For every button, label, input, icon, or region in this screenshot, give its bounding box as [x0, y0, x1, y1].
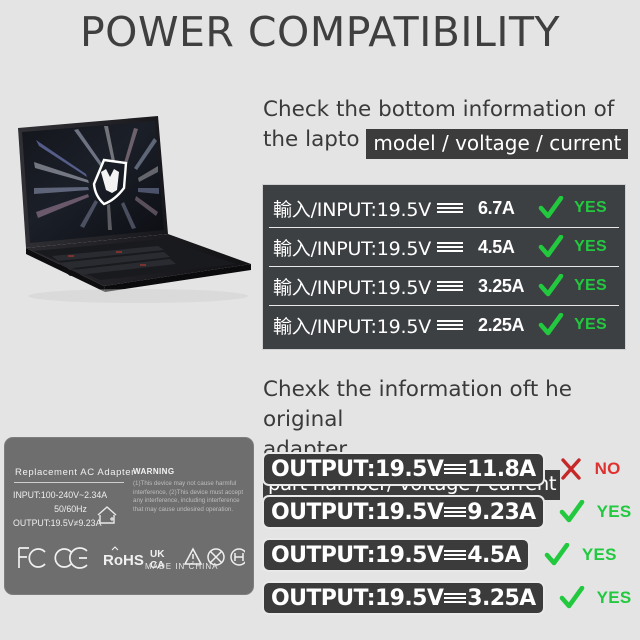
check-icon [538, 274, 564, 298]
input-heading-line2: the lapto [263, 127, 360, 152]
output-row-verdict: NO [559, 457, 621, 481]
fcc-icon [19, 548, 45, 568]
dc-symbol-icon [437, 281, 463, 291]
adapter-input: INPUT:100-240V~2.34A [13, 488, 128, 502]
input-row-verdict-label: YES [574, 316, 607, 334]
cross-icon [559, 457, 583, 481]
input-row-current: 4.5A [478, 237, 514, 258]
output-row-current: 9.23A [467, 500, 535, 525]
dc-symbol-icon [444, 550, 466, 560]
check-icon [538, 196, 564, 220]
output-row-current: 3.25A [467, 586, 535, 611]
output-row-pill: OUTPUT:19.5V 3.25A [262, 581, 545, 615]
output-row-pill: OUTPUT:19.5V 11.8A [262, 452, 545, 486]
dc-symbol-icon [437, 242, 463, 252]
rohs-check-icon [112, 547, 118, 550]
input-heading-highlight: model / voltage / current [366, 129, 628, 159]
adapter-title: Replacement AC Adapter [15, 467, 123, 478]
output-row-label: OUTPUT:19.5V [271, 586, 443, 611]
input-row-verdict: YES [538, 274, 615, 298]
dc-symbol-icon [444, 593, 466, 603]
output-spec-list: OUTPUT:19.5V 11.8A NO OUTPUT:19.5V 9.23A [262, 452, 638, 624]
output-row-verdict-label: NO [595, 459, 621, 479]
output-heading-line1: Chexk the information oft he original [263, 377, 572, 432]
output-row-verdict: YES [559, 500, 632, 524]
output-row: OUTPUT:19.5V 11.8A NO [262, 452, 638, 486]
input-row-current: 6.7A [478, 198, 514, 219]
input-row-label: 輸入/INPUT:19.5V [273, 234, 431, 261]
infographic-canvas: POWER COMPATIBILITY [0, 0, 640, 640]
check-icon [538, 235, 564, 259]
adapter-warning-title: WARNING [133, 467, 174, 476]
output-row: OUTPUT:19.5V 4.5A YES [262, 538, 638, 572]
svg-text:UK: UK [150, 549, 165, 560]
indoor-use-icon [95, 502, 119, 526]
dc-symbol-icon [437, 203, 463, 213]
input-row: 輸入/INPUT:19.5V 6.7A YES [269, 189, 619, 228]
output-row-label: OUTPUT:19.5V [271, 457, 443, 482]
input-row: 輸入/INPUT:19.5V 3.25A YES [269, 267, 619, 306]
check-icon [538, 313, 564, 337]
input-row-verdict-label: YES [574, 277, 607, 295]
input-heading-line1: Check the bottom information of [263, 97, 614, 122]
ce-icon [55, 548, 87, 568]
output-row-verdict-label: YES [582, 545, 617, 565]
input-row-verdict-label: YES [574, 238, 607, 256]
output-row-verdict: YES [544, 543, 617, 567]
dc-symbol-icon [444, 507, 466, 517]
adapter-label-image: Replacement AC Adapter INPUT:100-240V~2.… [4, 437, 254, 595]
adapter-warning-body: (1)This device may not cause harmful int… [133, 480, 245, 514]
h-mark-icon [231, 549, 245, 565]
input-row-verdict: YES [538, 196, 615, 220]
input-row: 輸入/INPUT:19.5V 2.25A YES [269, 306, 619, 344]
input-spec-panel: 輸入/INPUT:19.5V 6.7A YES 輸入/INPUT:19.5V 4… [262, 184, 626, 350]
svg-text:RoHS: RoHS [103, 552, 144, 569]
adapter-divider [14, 482, 124, 483]
input-row: 輸入/INPUT:19.5V 4.5A YES [269, 228, 619, 267]
check-icon [544, 543, 570, 567]
output-row-pill: OUTPUT:19.5V 4.5A [262, 538, 530, 572]
input-row-label: 輸入/INPUT:19.5V [273, 195, 431, 222]
input-row-verdict: YES [538, 313, 615, 337]
input-row-verdict: YES [538, 235, 615, 259]
page-title: POWER COMPATIBILITY [0, 8, 640, 56]
input-row-verdict-label: YES [574, 199, 607, 217]
rohs-icon: RoHS [103, 552, 144, 569]
input-row-current: 2.25A [478, 315, 524, 336]
output-row-verdict: YES [559, 586, 632, 610]
output-row-current: 4.5A [467, 543, 521, 568]
output-row-verdict-label: YES [597, 588, 632, 608]
made-in-label: MADE IN CHINA [145, 562, 218, 571]
input-section-heading: Check the bottom information of the lapt… [263, 95, 635, 159]
output-row-label: OUTPUT:19.5V [271, 543, 443, 568]
check-icon [559, 586, 585, 610]
output-row-label: OUTPUT:19.5V [271, 500, 443, 525]
check-icon [559, 500, 585, 524]
input-row-current: 3.25A [478, 276, 524, 297]
dc-symbol-icon [437, 320, 463, 330]
input-row-label: 輸入/INPUT:19.5V [273, 312, 431, 339]
output-row: OUTPUT:19.5V 3.25A YES [262, 581, 638, 615]
output-row-pill: OUTPUT:19.5V 9.23A [262, 495, 545, 529]
product-laptop-image [8, 88, 256, 318]
output-row-verdict-label: YES [597, 502, 632, 522]
input-row-label: 輸入/INPUT:19.5V [273, 273, 431, 300]
output-row-current: 11.8A [467, 457, 535, 482]
output-row: OUTPUT:19.5V 9.23A YES [262, 495, 638, 529]
dc-symbol-icon [444, 464, 466, 474]
